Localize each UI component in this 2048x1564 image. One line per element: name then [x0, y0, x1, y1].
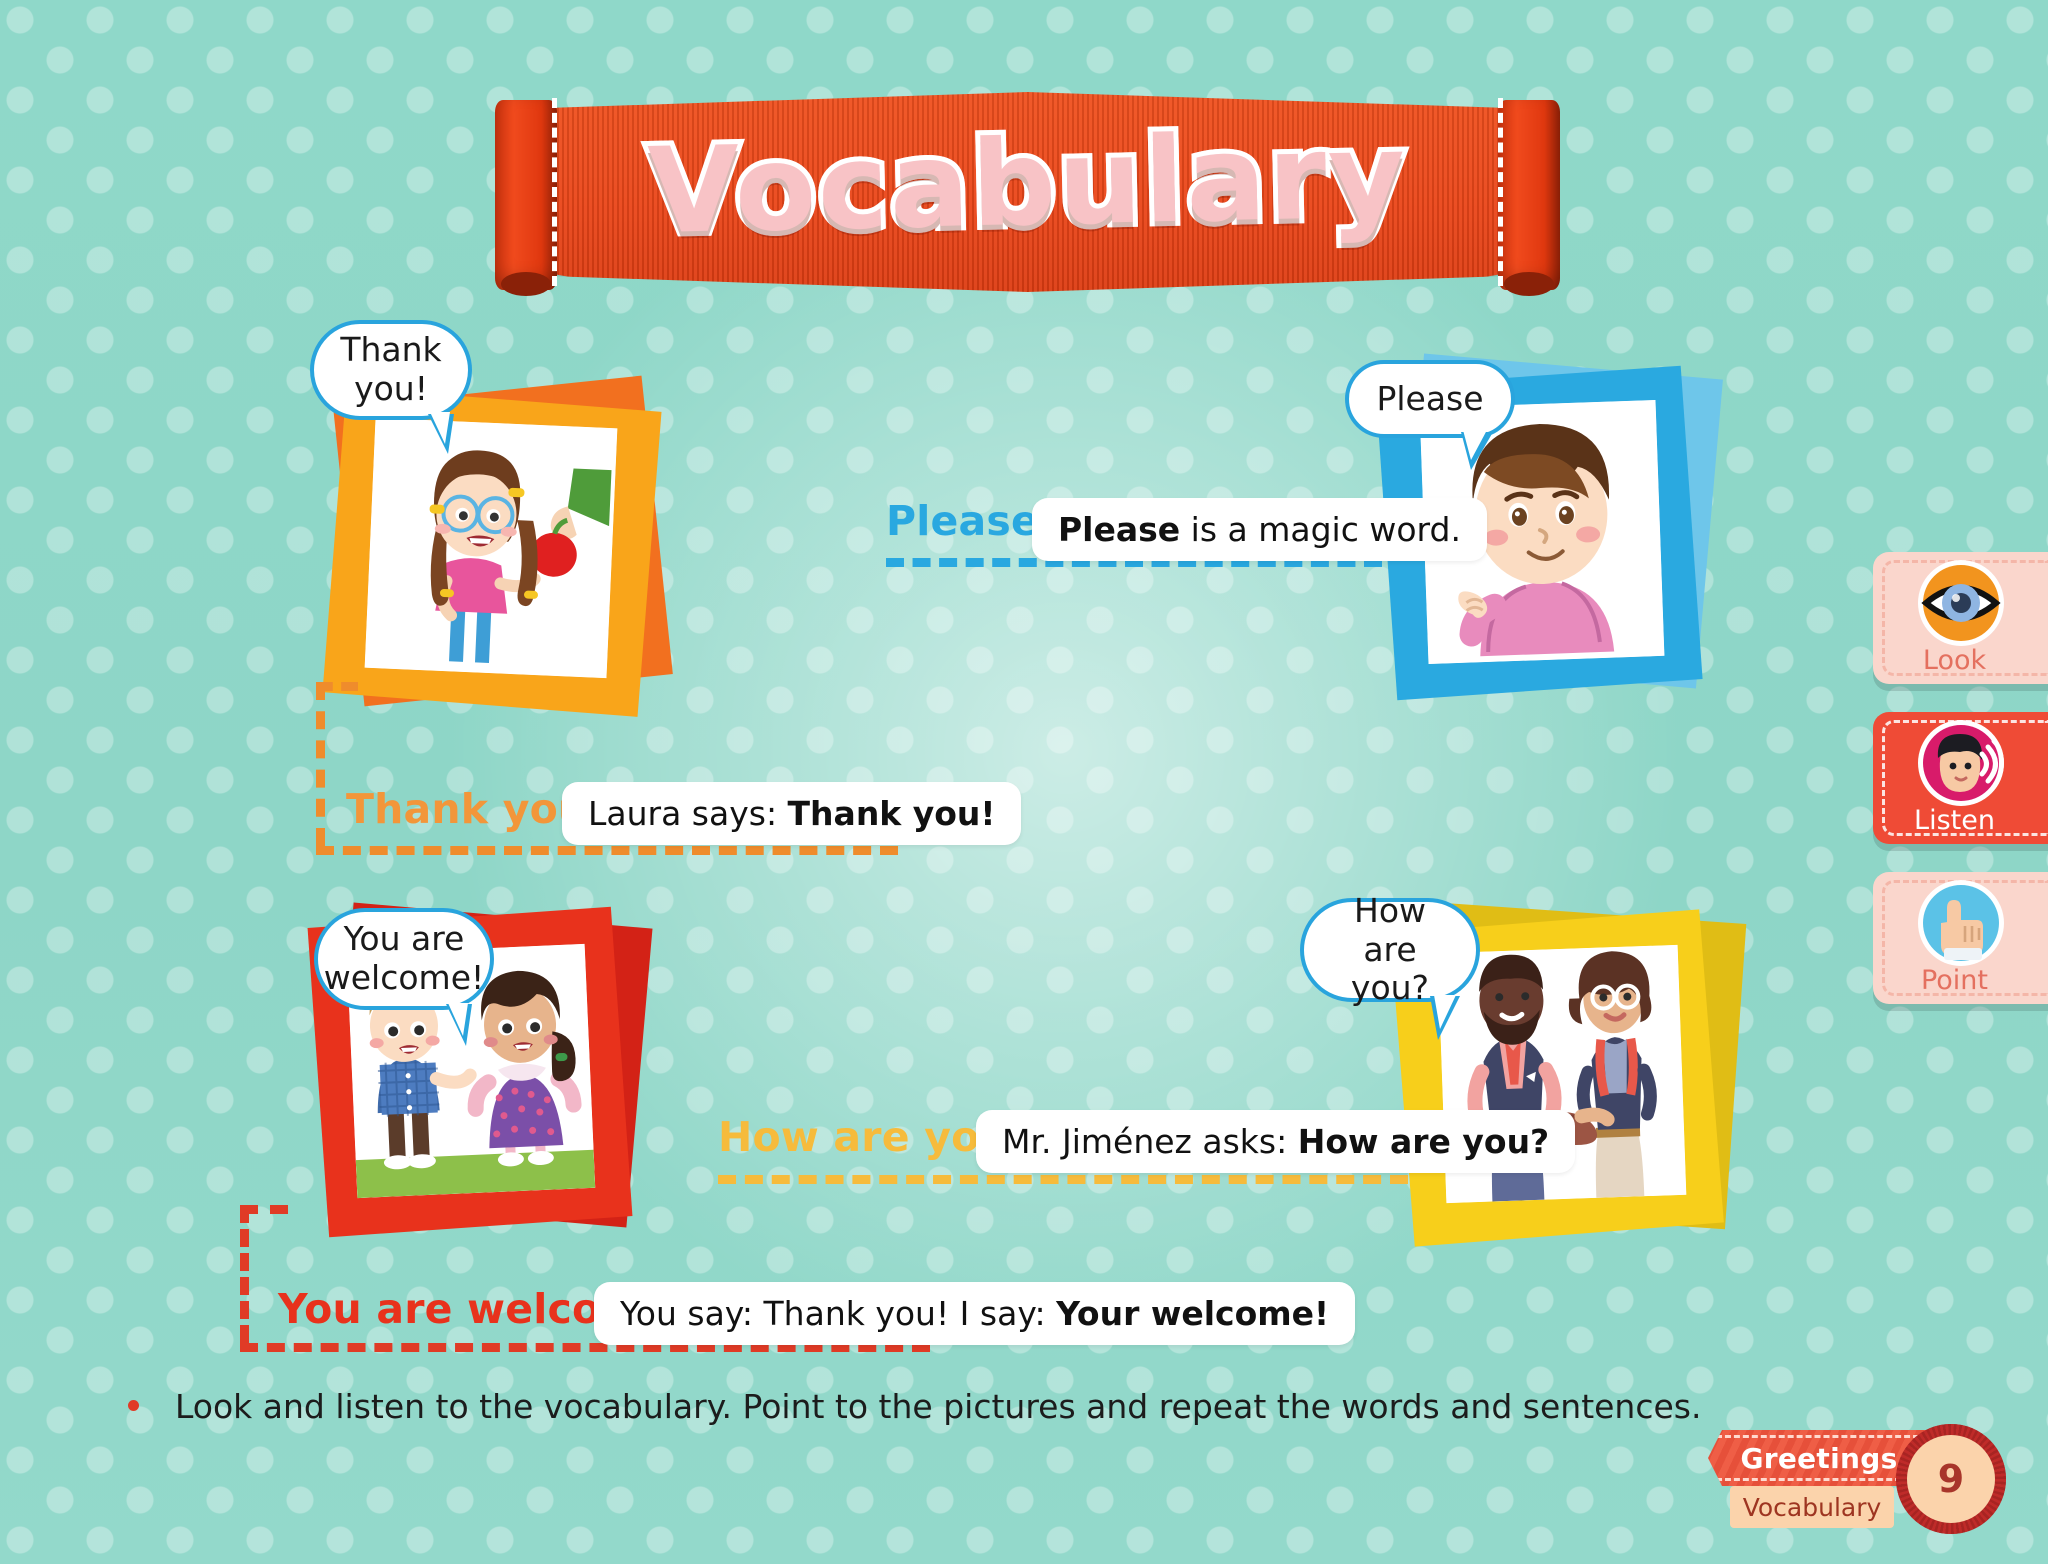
connector-line-how-are-you	[718, 1175, 1408, 1184]
speech-bubble-text: Please	[1376, 380, 1483, 419]
page-title: Vocabulary	[494, 103, 1562, 263]
bubble-tail-inner	[448, 1003, 468, 1036]
bubble-tail-inner	[1463, 430, 1487, 460]
sidebar-item-look[interactable]: Look	[1873, 552, 2048, 684]
activity-sidebar: Look Listen	[1873, 552, 2048, 1032]
sentence-bold: How are you?	[1298, 1122, 1550, 1161]
listen-face-icon	[1918, 720, 2004, 806]
vocab-sentence-how-are-you: Mr. Jiménez asks: How are you?	[976, 1110, 1575, 1173]
bullet-point-icon	[128, 1400, 139, 1411]
vocab-sentence-thank-you: Laura says: Thank you!	[562, 782, 1021, 845]
vocab-sentence-you-are-welcome: You say: Thank you! I say: Your welcome!	[594, 1282, 1355, 1345]
page-number: 9	[1907, 1435, 1995, 1523]
speech-bubble-text: You are welcome!	[324, 920, 484, 998]
sentence-bold: Please	[1058, 510, 1180, 549]
illustration-girl-apple	[365, 418, 618, 678]
sentence-prefix: Mr. Jiménez asks:	[1002, 1122, 1298, 1161]
sentence-prefix: Laura says:	[588, 794, 788, 833]
speech-bubble-thank-you: Thank you!	[310, 320, 472, 420]
connector-vert-you-are-welcome	[240, 1205, 249, 1343]
speech-bubble-please: Please	[1345, 360, 1515, 438]
speech-bubble-you-are-welcome: You are welcome!	[314, 908, 494, 1010]
speech-bubble-how-are-you: How are you?	[1300, 898, 1480, 1002]
page-footer: Greetings Vocabulary 9	[1708, 1424, 2008, 1542]
vocab-sentence-please: Please is a magic word.	[1032, 498, 1487, 561]
speech-bubble-text: Thank you!	[336, 331, 446, 409]
sentence-bold: Your welcome!	[1056, 1294, 1329, 1333]
bubble-tail-inner	[430, 412, 450, 444]
connector-top-you-are-welcome	[240, 1205, 288, 1214]
page-number-badge: 9	[1896, 1424, 2006, 1534]
vocabulary-banner: Vocabulary	[495, 92, 1560, 292]
instruction-text: Look and listen to the vocabulary. Point…	[175, 1387, 1701, 1426]
connector-top-thank-you	[316, 682, 358, 691]
photo-image-thank-you	[365, 418, 618, 678]
eye-icon	[1918, 560, 2004, 646]
unit-name: Greetings	[1740, 1442, 1897, 1475]
bubble-tail-inner	[1434, 995, 1456, 1029]
sentence-prefix: You say: Thank you! I say:	[620, 1294, 1056, 1333]
sentence-suffix: is a magic word.	[1180, 510, 1461, 549]
page-canvas: Vocabulary	[0, 0, 2048, 1564]
sentence-bold: Thank you!	[788, 794, 996, 833]
sidebar-item-listen[interactable]: Listen	[1873, 712, 2048, 844]
connector-line-thank-you	[316, 846, 898, 855]
connector-vert-thank-you	[316, 682, 325, 846]
sidebar-item-point[interactable]: Point	[1873, 872, 2048, 1004]
sidebar-label-listen: Listen	[1873, 805, 2036, 836]
sidebar-label-look: Look	[1873, 645, 2036, 676]
vocab-word-please: Please	[886, 497, 1039, 545]
pointing-hand-icon	[1918, 880, 2004, 966]
photo-card-thank-you	[330, 385, 670, 715]
sidebar-label-point: Point	[1873, 965, 2036, 996]
speech-bubble-text: How are you?	[1326, 892, 1454, 1009]
section-name: Vocabulary	[1730, 1486, 1894, 1528]
